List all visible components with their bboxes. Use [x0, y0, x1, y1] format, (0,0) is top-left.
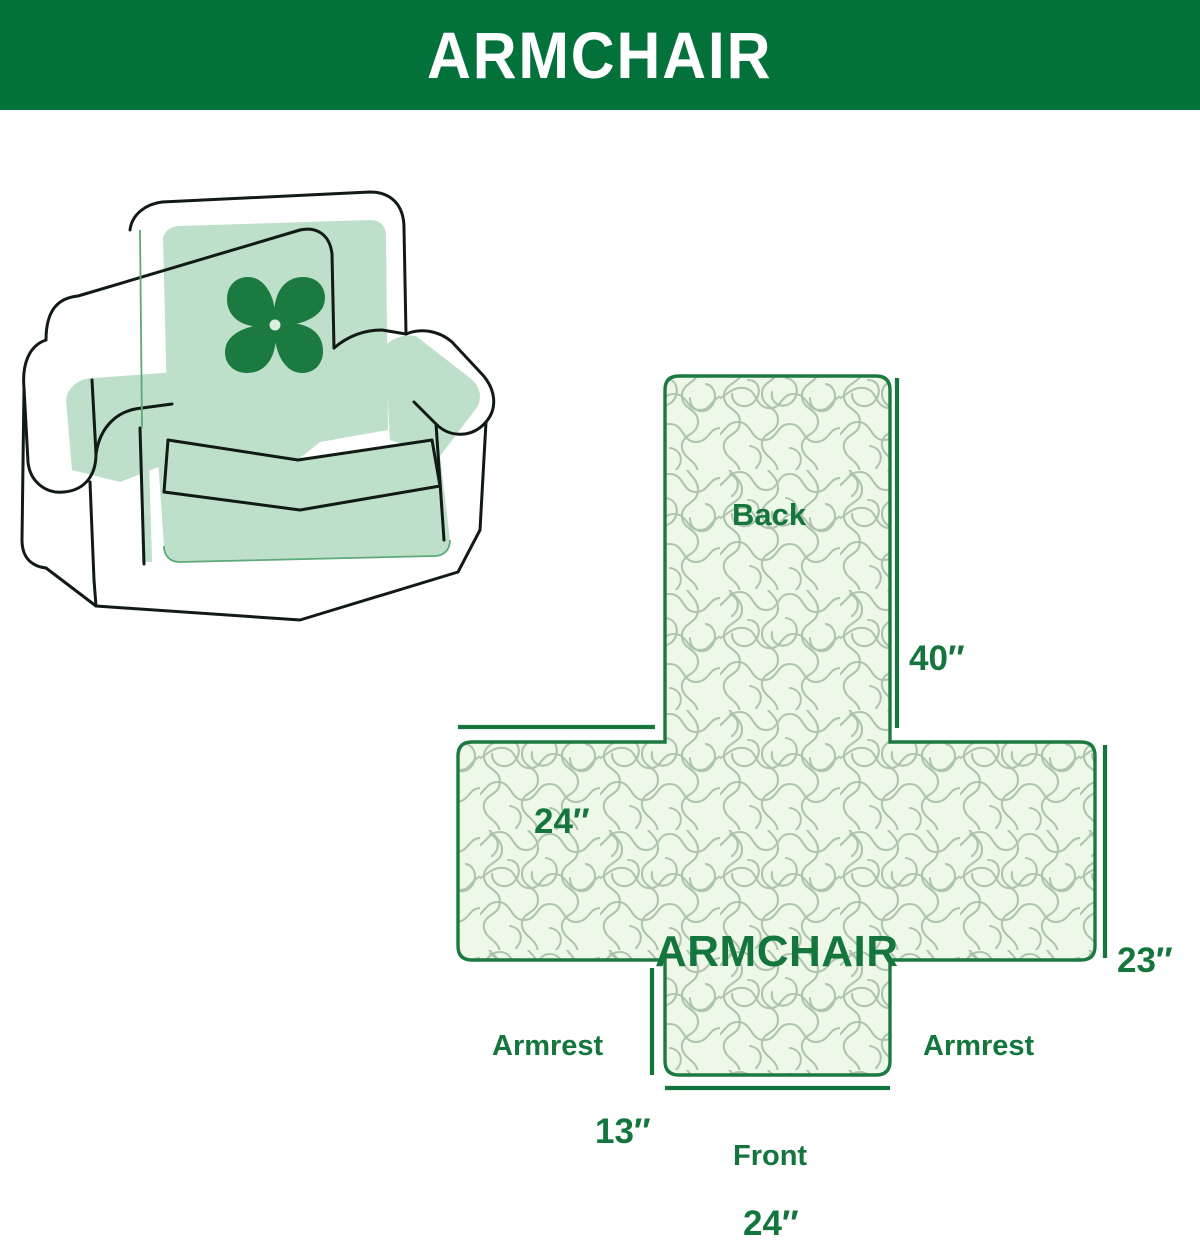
page-title: ARMCHAIR — [427, 22, 772, 88]
dimension-label-front-width: 24″ — [743, 1206, 799, 1241]
chair-right-side-edge — [480, 422, 486, 530]
dimension-label-back-height: 40″ — [909, 641, 965, 676]
panel-label-front: Front — [733, 1142, 807, 1171]
panel-label-armchair: ARMCHAIR — [655, 930, 899, 974]
panel-label-armrest-left: Armrest — [492, 1032, 603, 1061]
pinwheel-center — [270, 320, 281, 331]
dimension-label-front-height: 13″ — [595, 1114, 651, 1149]
armchair-illustration — [22, 192, 494, 620]
panel-label-armrest-right: Armrest — [923, 1032, 1034, 1061]
chair-base-left-corner — [94, 580, 96, 606]
panel-label-back: Back — [732, 499, 806, 530]
dimension-label-back-width: 24″ — [534, 804, 590, 839]
diagram-canvas: Back ARMCHAIR Armrest Armrest Front 40″ … — [0, 110, 1200, 1200]
chair-backrest-right-edge — [332, 254, 334, 348]
header-banner: ARMCHAIR — [0, 0, 1200, 110]
slipcover-right-arm-fill — [385, 335, 480, 456]
dimension-label-seat-depth: 23″ — [1117, 943, 1173, 978]
chair-left-arm-front-edge — [90, 482, 94, 580]
